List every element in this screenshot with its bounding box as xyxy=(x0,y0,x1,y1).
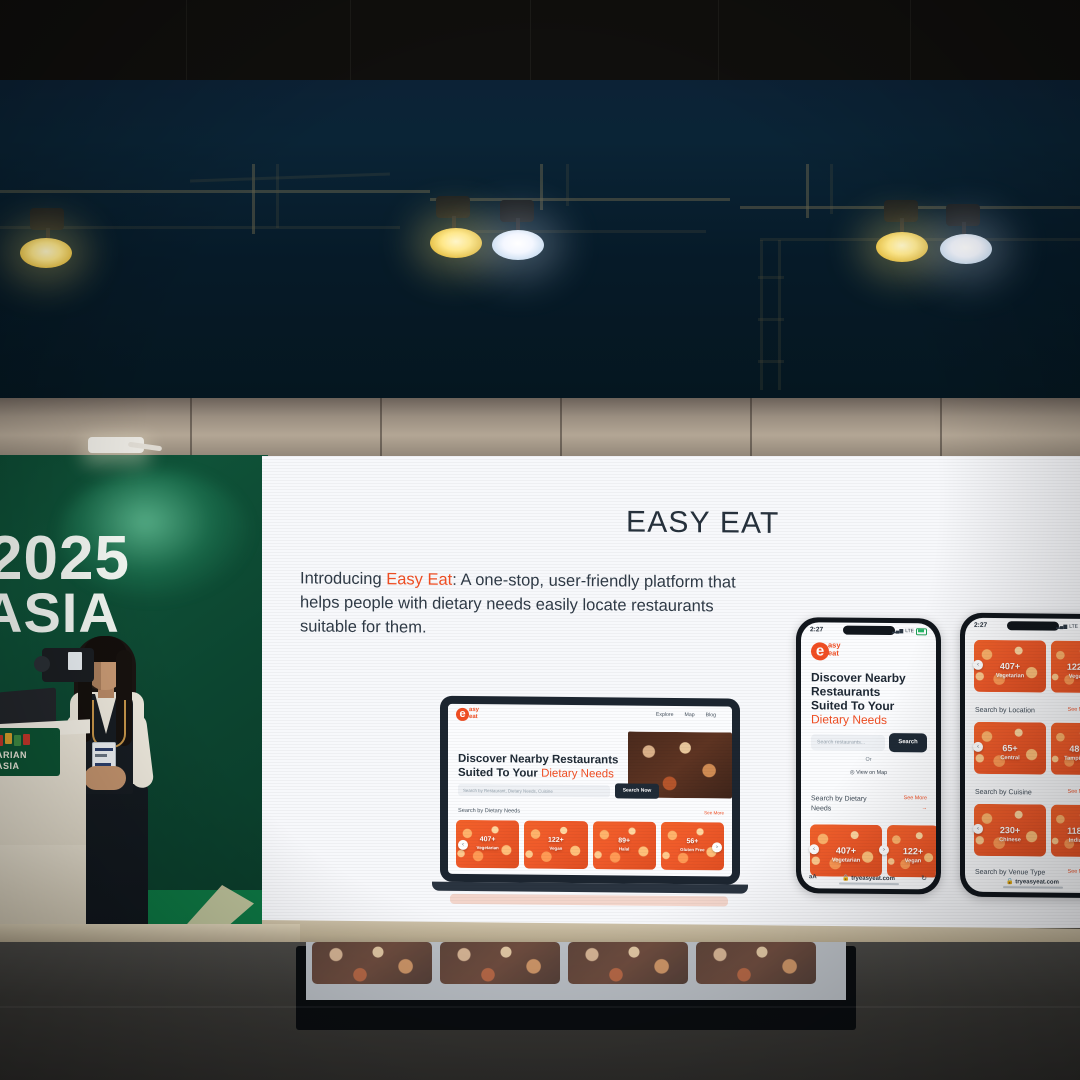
venue-wall-band xyxy=(0,398,1080,460)
home-indicator xyxy=(839,883,899,886)
cuisine-section-label: Search by Cuisine xyxy=(975,788,1063,798)
network-label: LTE xyxy=(1069,624,1078,630)
headline-accent: Dietary Needs xyxy=(811,712,917,727)
laptop-screen: e asy eat Explore Map Blog Disc xyxy=(448,704,732,877)
nav-links: Explore Map Blog xyxy=(656,712,716,719)
dietary-card[interactable]: 122+ Vegan xyxy=(887,825,936,877)
dietary-card-carousel: 407+ Vegetarian 122+ Vegan xyxy=(974,640,1080,693)
floor-seam xyxy=(0,1006,1080,1008)
venue-see-more-link[interactable]: See More xyxy=(1068,869,1080,875)
easyeat-logo-icon[interactable]: e xyxy=(811,642,829,660)
dietary-card[interactable]: 407+ Vegetarian xyxy=(974,640,1046,693)
laptop-base xyxy=(432,882,748,894)
card-count: 122+ xyxy=(1051,662,1080,672)
carousel-prev-icon[interactable]: ‹ xyxy=(458,840,468,850)
reload-icon[interactable]: ↻ xyxy=(921,874,927,882)
phone-search-placeholder: Search restaurants... xyxy=(817,739,865,745)
laptop-card-carousel: 407+ Vegetarian 122+ Vegan 89+ Halal 5 xyxy=(456,820,724,871)
dietary-card[interactable]: 407+ Vegetarian xyxy=(810,824,882,877)
card-label: Vegan xyxy=(887,858,936,864)
nav-item-map[interactable]: Map xyxy=(685,712,695,718)
lock-icon: 🔒 xyxy=(1006,879,1013,885)
phone-one-headline: Discover Nearby Restaurants Suited To Yo… xyxy=(811,670,917,727)
phone-mockup-one: 2:27 ▂▄▆ LTE e asy eat Discover Nearby xyxy=(796,617,941,894)
podium-logo-text: ARIAN ASIA xyxy=(0,750,27,772)
slide-body-text: Introducing Easy Eat: A one-stop, user-f… xyxy=(300,566,748,642)
dietary-card[interactable]: 89+ Halal xyxy=(593,821,656,870)
video-camera xyxy=(42,648,94,682)
laptop-shadow xyxy=(450,894,728,907)
phone-section-label: Search by Dietary Needs xyxy=(811,794,877,814)
laptop-search-input[interactable]: Search by Restaurant, Dietary Needs, Cui… xyxy=(458,784,610,797)
podium-logo-mark xyxy=(0,731,40,748)
location-card[interactable]: 65+ Central xyxy=(974,722,1046,775)
card-label: Indian xyxy=(1051,838,1080,844)
cuisine-card[interactable]: 118+ Indian xyxy=(1051,805,1080,857)
headline-line2: Restaurants xyxy=(811,684,917,699)
status-indicators: ▂▄▆ LTE xyxy=(892,628,927,635)
lower-card xyxy=(568,942,688,984)
laptop-see-more-link[interactable]: See More xyxy=(704,810,724,815)
laptop-mockup: e asy eat Explore Map Blog Disc xyxy=(440,696,752,899)
backdrop-region: ASIA xyxy=(0,585,120,641)
carousel-prev-icon[interactable]: ‹ xyxy=(973,660,983,670)
nav-item-blog[interactable]: Blog xyxy=(706,712,716,718)
view-on-map-link[interactable]: ◎ View on Map xyxy=(801,769,936,776)
carousel-prev-icon[interactable]: ‹ xyxy=(973,824,983,834)
headline-line2-plain: Suited To Your xyxy=(458,767,541,780)
laptop-search-button[interactable]: Search Now xyxy=(615,783,659,798)
see-more-arrow-icon[interactable]: → xyxy=(922,805,927,811)
ceiling-black-band xyxy=(0,0,1080,82)
lower-screen-content xyxy=(306,942,846,1000)
cuisine-card[interactable]: 230+ Chinese xyxy=(974,804,1046,857)
card-label: Vegetarian xyxy=(810,857,882,864)
battery-icon xyxy=(916,628,927,635)
phone-search-button[interactable]: Search xyxy=(889,733,927,752)
browser-bottom-bar: 🔒 tryeasyeat.com xyxy=(965,876,1080,890)
lower-card xyxy=(696,942,816,984)
phone-two-screen: 2:27 ▂▄▆ LTE 407+ Vegetarian xyxy=(965,618,1080,893)
browser-url[interactable]: 🔒 tryeasyeat.com xyxy=(801,874,936,882)
easyeat-logo-text: asy eat xyxy=(469,707,479,720)
easyeat-logo-text: asy eat xyxy=(828,641,841,657)
phone-status-bar: 2:27 ▂▄▆ LTE xyxy=(801,626,936,638)
presentation-screen: EASY EAT Introducing Easy Eat: A one-sto… xyxy=(262,456,1080,928)
or-divider-label: Or xyxy=(801,756,936,763)
headline-line1: Discover Nearby xyxy=(811,670,917,685)
signal-icon: ▂▄▆ xyxy=(1056,624,1067,630)
card-label: Central xyxy=(974,755,1046,762)
card-count: 122+ xyxy=(887,846,936,856)
status-time: 2:27 xyxy=(810,626,823,633)
card-count: 89+ xyxy=(593,837,656,845)
easyeat-logo-icon[interactable]: e xyxy=(456,708,469,721)
presenter-hands xyxy=(84,766,126,790)
cuisine-card-carousel: 230+ Chinese 118+ Indian xyxy=(974,804,1080,857)
headline-line3: Suited To Your xyxy=(811,698,917,713)
dietary-card[interactable]: 122+ Vegan xyxy=(1051,641,1080,693)
phone-search-input[interactable]: Search restaurants... xyxy=(811,734,885,751)
card-label: Vegan xyxy=(1051,674,1080,680)
browser-url[interactable]: 🔒 tryeasyeat.com xyxy=(965,878,1080,886)
card-label: Halal xyxy=(593,846,656,852)
phone-one-screen: 2:27 ▂▄▆ LTE e asy eat Discover Nearby xyxy=(801,622,936,889)
laptop-headline: Discover Nearby Restaurants Suited To Yo… xyxy=(458,752,626,782)
status-time: 2:27 xyxy=(974,622,987,629)
card-count: 230+ xyxy=(974,825,1046,836)
laptop-section-label: Search by Dietary Needs xyxy=(458,808,520,815)
dietary-card[interactable]: 122+ Vegan xyxy=(524,821,587,870)
card-label: Chinese xyxy=(974,837,1046,844)
browser-bottom-bar: aA 🔒 tryeasyeat.com ↻ xyxy=(801,872,936,886)
card-label: Tampines xyxy=(1051,756,1080,762)
brand-name: Easy Eat xyxy=(386,570,452,589)
home-indicator xyxy=(1003,886,1063,889)
network-label: LTE xyxy=(905,628,914,634)
view-on-map-label: View on Map xyxy=(856,770,887,776)
presenter-lanyard xyxy=(92,700,126,748)
phone-status-bar: 2:27 ▂▄▆ LTE xyxy=(965,622,1080,634)
map-pin-icon: ◎ xyxy=(850,770,855,776)
lower-card-row xyxy=(312,942,816,984)
card-label: Vegetarian xyxy=(974,673,1046,680)
carousel-next-icon[interactable]: › xyxy=(712,842,722,852)
card-count: 407+ xyxy=(974,661,1046,672)
headline-accent: Dietary Needs xyxy=(541,768,614,781)
headline-line1: Discover Nearby Restaurants xyxy=(458,753,618,767)
location-card[interactable]: 48+ Tampines xyxy=(1051,723,1080,775)
phone-mockup-two: 2:27 ▂▄▆ LTE 407+ Vegetarian xyxy=(960,613,1080,898)
carousel-prev-icon[interactable]: ‹ xyxy=(973,742,983,752)
carousel-prev-icon[interactable]: ‹ xyxy=(809,844,819,854)
location-section-label: Search by Location xyxy=(975,706,1063,716)
status-indicators: ▂▄▆ LTE xyxy=(1056,623,1080,630)
cuisine-see-more-link[interactable]: See More xyxy=(1068,789,1080,795)
phone-see-more-link[interactable]: See More xyxy=(904,795,927,801)
lock-icon: 🔒 xyxy=(842,876,849,882)
slide-title: EASY EAT xyxy=(626,505,780,540)
card-count: 407+ xyxy=(810,845,882,856)
lower-card xyxy=(440,942,560,984)
phone-card-carousel: 407+ Vegetarian 122+ Vegan xyxy=(810,824,936,877)
laptop-search-placeholder: Search by Restaurant, Dietary Needs, Cui… xyxy=(463,787,553,793)
podium-logo: ARIAN ASIA xyxy=(0,728,60,776)
location-card-carousel: 65+ Central 48+ Tampines xyxy=(974,722,1080,775)
conference-stage-photo: 2025 ASIA xyxy=(0,0,1080,1080)
website-navbar: e asy eat Explore Map Blog xyxy=(448,704,732,727)
card-count: 48+ xyxy=(1051,744,1080,754)
nav-item-explore[interactable]: Explore xyxy=(656,712,674,718)
lower-screen-panel xyxy=(296,946,856,1030)
card-count: 122+ xyxy=(524,837,587,845)
card-count: 65+ xyxy=(974,743,1046,754)
card-count: 118+ xyxy=(1051,826,1080,836)
location-see-more-link[interactable]: See More xyxy=(1068,707,1080,713)
signal-icon: ▂▄▆ xyxy=(892,628,903,634)
card-label: Vegan xyxy=(524,846,587,852)
intro-prefix: Introducing xyxy=(300,569,386,588)
carousel-next-icon[interactable]: › xyxy=(879,845,889,855)
lower-card xyxy=(312,942,432,984)
